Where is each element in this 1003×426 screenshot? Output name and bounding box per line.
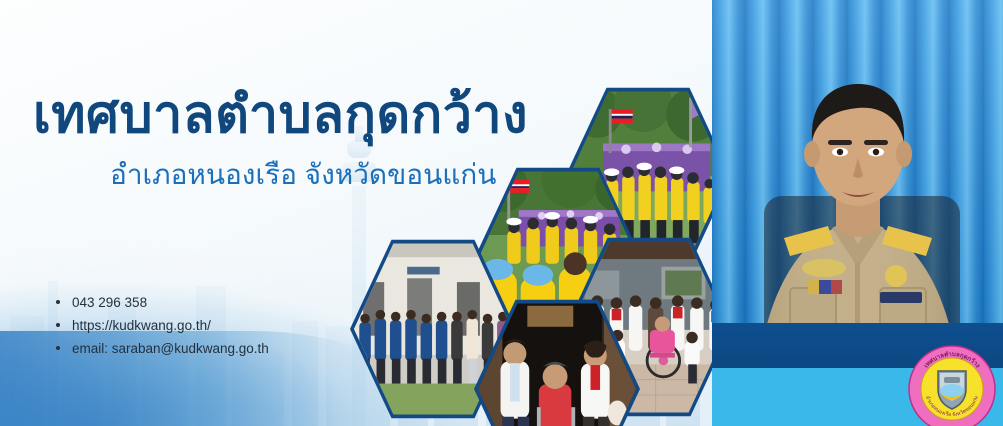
contact-email-text[interactable]: email: saraban@kudkwang.go.th (72, 341, 269, 356)
contact-item-website[interactable]: https://kudkwang.go.th/ (55, 314, 269, 337)
bullet-dot-icon (56, 300, 60, 304)
hex-photo-collage (350, 84, 730, 404)
contact-phone-text: 043 296 358 (72, 295, 147, 310)
contact-website-text[interactable]: https://kudkwang.go.th/ (72, 318, 211, 333)
contact-list: 043 296 358 https://kudkwang.go.th/ emai… (55, 291, 269, 360)
municipality-seal: เทศบาลตำบลกุดกว้าง อำเภอหนองเรือ จังหวัด… (908, 345, 996, 426)
contact-item-email[interactable]: email: saraban@kudkwang.go.th (55, 337, 269, 360)
bullet-dot-icon (56, 346, 60, 350)
bullet-dot-icon (56, 323, 60, 327)
contact-item-phone: 043 296 358 (55, 291, 269, 314)
municipality-banner: เทศบาลตำบลกุดกว้าง อำเภอหนองเรือ จังหวัด… (0, 0, 1003, 426)
